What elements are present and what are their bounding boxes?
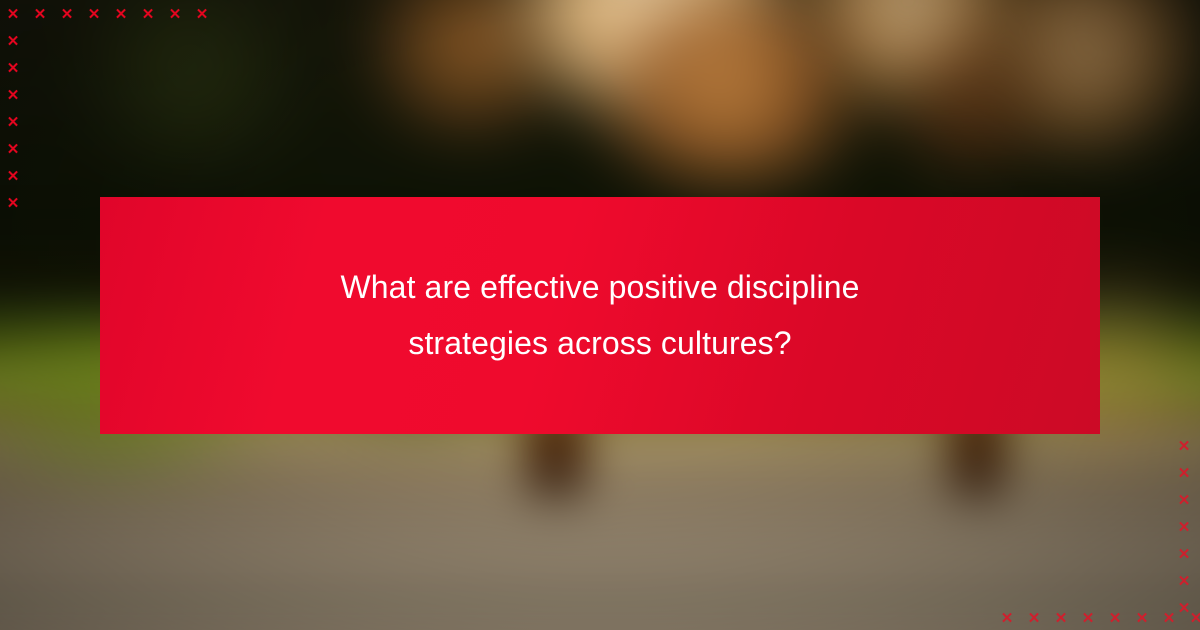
decorative-cross-icon: ✕ [1177, 467, 1191, 481]
decorative-cross-icon: ✕ [168, 8, 182, 22]
headline-banner: What are effective positive discipline s… [100, 197, 1100, 434]
decorative-cross-icon: ✕ [195, 8, 209, 22]
decorative-cross-icon: ✕ [114, 8, 128, 22]
decorative-cross-icon: ✕ [33, 8, 47, 22]
decorative-cross-icon: ✕ [6, 143, 20, 157]
decorative-cross-icon: ✕ [1108, 612, 1122, 626]
decorative-cross-icon: ✕ [1162, 612, 1176, 626]
decorative-cross-icon: ✕ [1135, 612, 1149, 626]
decorative-cross-icon: ✕ [1177, 575, 1191, 589]
decorative-cross-icon: ✕ [1177, 440, 1191, 454]
decorative-cross-icon: ✕ [1027, 612, 1041, 626]
headline-text: What are effective positive discipline s… [280, 260, 920, 370]
decorative-cross-icon: ✕ [6, 8, 20, 22]
decorative-cross-icon: ✕ [60, 8, 74, 22]
decorative-cross-icon: ✕ [1177, 494, 1191, 508]
decorative-cross-icon: ✕ [6, 197, 20, 211]
decorative-cross-icon: ✕ [1177, 548, 1191, 562]
decorative-cross-icon: ✕ [1000, 612, 1014, 626]
decorative-cross-icon: ✕ [6, 89, 20, 103]
decorative-cross-icon: ✕ [6, 35, 20, 49]
decorative-cross-icon: ✕ [1054, 612, 1068, 626]
decorative-cross-icon: ✕ [1081, 612, 1095, 626]
decorative-cross-icon: ✕ [1177, 521, 1191, 535]
decorative-cross-icon: ✕ [6, 62, 20, 76]
decorative-cross-icon: ✕ [6, 170, 20, 184]
social-share-card: What are effective positive discipline s… [0, 0, 1200, 630]
decorative-cross-icon: ✕ [1177, 602, 1191, 616]
decorative-cross-icon: ✕ [87, 8, 101, 22]
decorative-cross-icon: ✕ [141, 8, 155, 22]
decorative-cross-icon: ✕ [6, 116, 20, 130]
